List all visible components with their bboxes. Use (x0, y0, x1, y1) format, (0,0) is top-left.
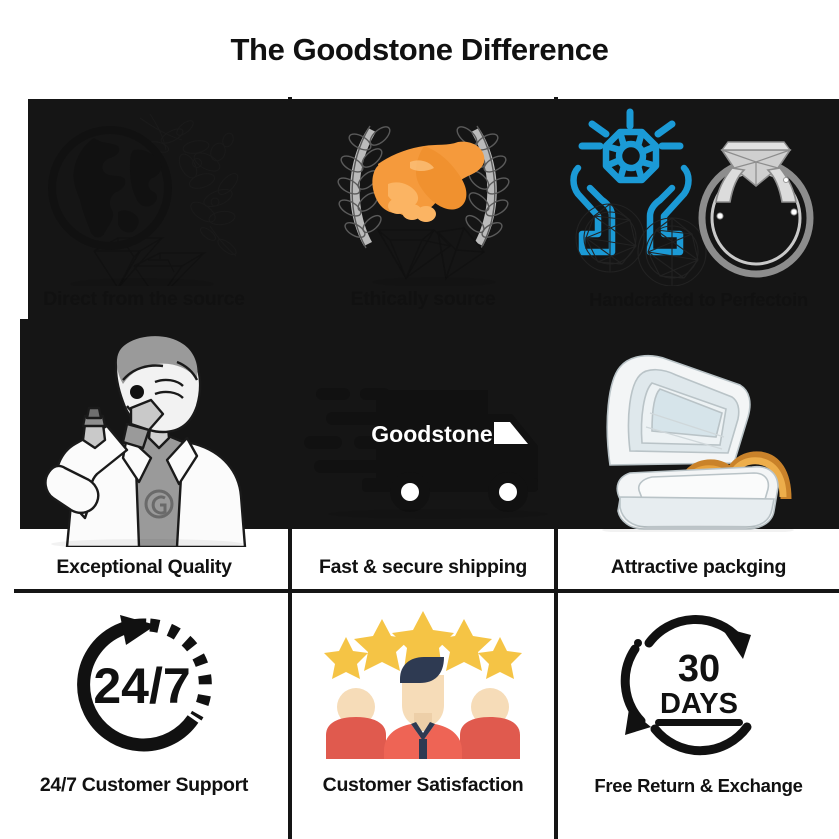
person-center (384, 657, 462, 759)
person-left (326, 688, 386, 759)
cell-label: Free Return & Exchange (594, 775, 802, 797)
truck-brand-text: Goodstone (371, 421, 492, 447)
cell-customer-satisfaction: Customer Satisfaction (292, 593, 554, 803)
cell-direct-from-source: Direct from the source (0, 103, 288, 315)
cell-label: Customer Satisfaction (323, 774, 524, 797)
hands-holding-gem-ring-icon (558, 103, 839, 289)
cell-label: 24/7 Customer Support (40, 774, 248, 797)
cell-label: Attractive packging (611, 556, 786, 579)
return-30-days-icon: 30 DAYS (558, 593, 839, 775)
cell-free-return-exchange: 30 DAYS Free Return & Exchange (558, 593, 839, 803)
cell-handcrafted-to-perfection: Handcrafted to Perfectoin (558, 103, 839, 315)
cell-attractive-packaging: Attractive packging (558, 323, 839, 585)
five-stars-people-icon (292, 593, 554, 774)
cell-fast-secure-shipping: Goodstone Fast & secure shipping (292, 323, 554, 585)
infographic-root: The Goodstone Difference (0, 0, 839, 839)
support-badge-text: 24/7 (93, 658, 190, 714)
return-days-number: 30 (678, 648, 720, 690)
globe-flowers-diamonds-icon (0, 103, 288, 288)
cell-label: Exceptional Quality (56, 556, 231, 579)
cell-exceptional-quality: Exceptional Quality (0, 323, 288, 585)
cell-customer-support: 24/7 24/7 Customer Support (0, 593, 288, 803)
page-title: The Goodstone Difference (0, 32, 839, 68)
handshake-laurel-diamonds-icon (292, 103, 554, 288)
delivery-truck-icon: Goodstone (292, 323, 554, 556)
cell-label: Fast & secure shipping (319, 556, 527, 579)
ring-box-icon (558, 323, 839, 556)
cell-label: Direct from the source (43, 288, 244, 311)
cell-label: Handcrafted to Perfectoin (589, 289, 808, 311)
jeweler-loupe-icon (0, 323, 288, 556)
person-right (460, 688, 520, 759)
cell-ethically-source: Ethically source (292, 103, 554, 315)
clock-arrow-247-icon: 24/7 (0, 593, 288, 774)
return-days-unit: DAYS (660, 688, 738, 720)
cell-label: Ethically source (351, 288, 496, 311)
